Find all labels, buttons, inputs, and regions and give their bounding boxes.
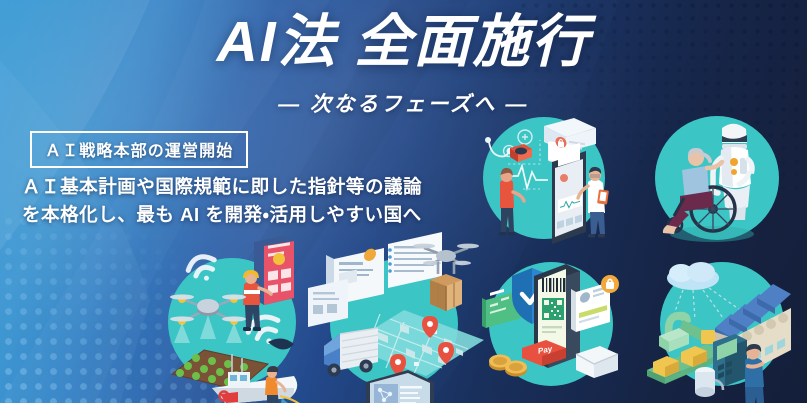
illustration-care-robot [650, 108, 786, 248]
page-title: AI法 全面施行 [0, 14, 807, 71]
illustration-smart-agri [150, 232, 330, 403]
page-subtitle: — 次なるフェーズへ — [0, 88, 807, 118]
status-badge: ＡＩ戦略本部の運営開始 [30, 131, 248, 168]
illustration-smart-factory [645, 250, 807, 403]
lead-text: ＡＩ基本計画や国際規範に即した指針等の議論 を本格化し、最も AI を開発・活用… [22, 173, 422, 229]
illustration-logistics-ai [308, 232, 488, 403]
ai-law-banner: Pay [0, 0, 807, 403]
illustration-digital-payment: Pay [478, 248, 628, 403]
lead-line-1: ＡＩ基本計画や国際規範に即した指針等の議論 [22, 173, 422, 201]
lead-line-2: を本格化し、最も AI を開発・活用しやすい国へ [22, 201, 422, 229]
illustration-healthcare-ai [478, 104, 618, 249]
